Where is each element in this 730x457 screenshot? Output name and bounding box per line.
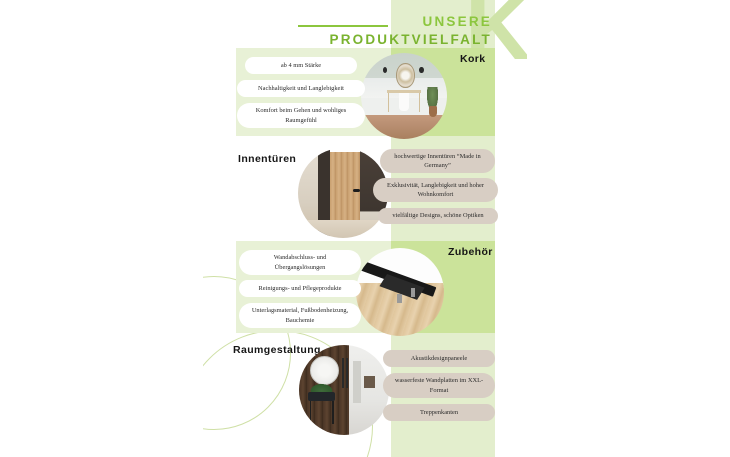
section-title-zubehoer: Zubehör xyxy=(448,246,493,258)
pill-innentueren-3: vielfältige Designs, schöne Optiken xyxy=(378,208,498,224)
pill-kork-3: Komfort beim Gehen und wohliges Raumgefü… xyxy=(237,103,365,128)
cork-room-photo xyxy=(361,53,447,139)
pill-zubehoer-1: Wandabschluss- und Übergangslösungen xyxy=(239,250,361,275)
pill-raumgestaltung-3: Treppenkanten xyxy=(383,404,495,421)
header-line-1: UNSERE xyxy=(423,14,492,29)
wall-panel-room-photo xyxy=(299,345,389,435)
pill-innentueren-2: Exklusivität, Langlebigkeit und hoher Wo… xyxy=(373,178,498,202)
pill-zubehoer-2: Reinigungs- und Pflegeprodukte xyxy=(239,280,361,297)
floor-profile-photo xyxy=(356,248,444,336)
section-title-innentueren: Innentüren xyxy=(238,153,296,165)
pill-raumgestaltung-2: wasserfeste Wandplatten im XXL-Format xyxy=(383,373,495,398)
header-line-2: PRODUKTVIELFALT xyxy=(330,32,493,47)
pill-raumgestaltung-1: Akustikdesignpaneele xyxy=(383,350,495,367)
pill-kork-2: Nachhaltigkeit und Langlebigkeit xyxy=(237,80,365,97)
brochure-page: K UNSERE PRODUKTVIELFALT Kork ab 4 mm St… xyxy=(203,0,527,457)
pill-kork-1: ab 4 mm Stärke xyxy=(245,57,357,74)
section-title-kork: Kork xyxy=(460,53,486,65)
header-rule xyxy=(298,25,388,27)
page-header: UNSERE PRODUKTVIELFALT xyxy=(203,8,527,52)
pill-innentueren-1: hochwertige Innentüren “Made in Germany” xyxy=(380,149,495,173)
pill-zubehoer-3: Unterlagsmaterial, Fußbodenheizung, Bauc… xyxy=(239,303,361,328)
